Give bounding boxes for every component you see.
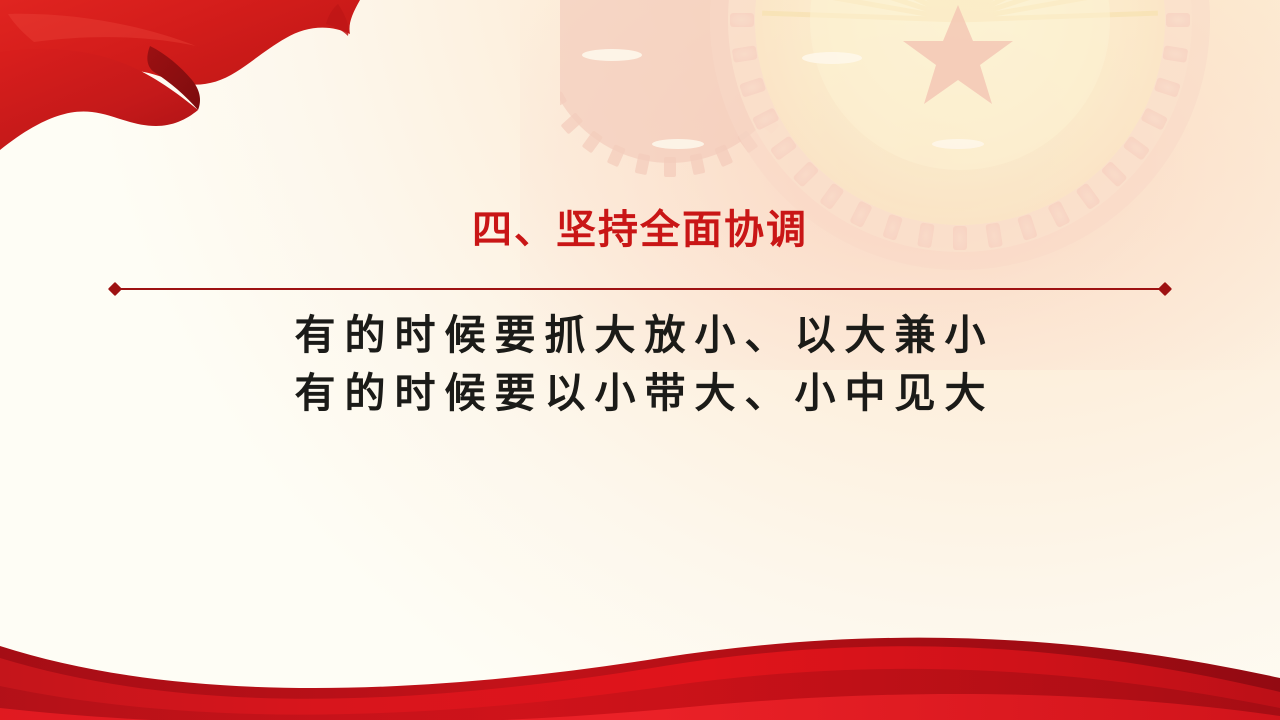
- body-line-1: 有的时候要抓大放小、以大兼小: [0, 306, 1280, 364]
- slide-content: 四、坚持全面协调 有的时候要抓大放小、以大兼小 有的时候要以小带大、小中见大: [0, 0, 1280, 720]
- body-line-2: 有的时候要以小带大、小中见大: [0, 364, 1280, 422]
- title-divider: [110, 284, 1170, 294]
- body-text-block: 有的时候要抓大放小、以大兼小 有的时候要以小带大、小中见大: [0, 306, 1280, 422]
- slide-canvas: 四、坚持全面协调 有的时候要抓大放小、以大兼小 有的时候要以小带大、小中见大: [0, 0, 1280, 720]
- divider-rule: [115, 288, 1165, 290]
- divider-dot-right: [1158, 282, 1172, 296]
- page-title: 四、坚持全面协调: [0, 208, 1280, 252]
